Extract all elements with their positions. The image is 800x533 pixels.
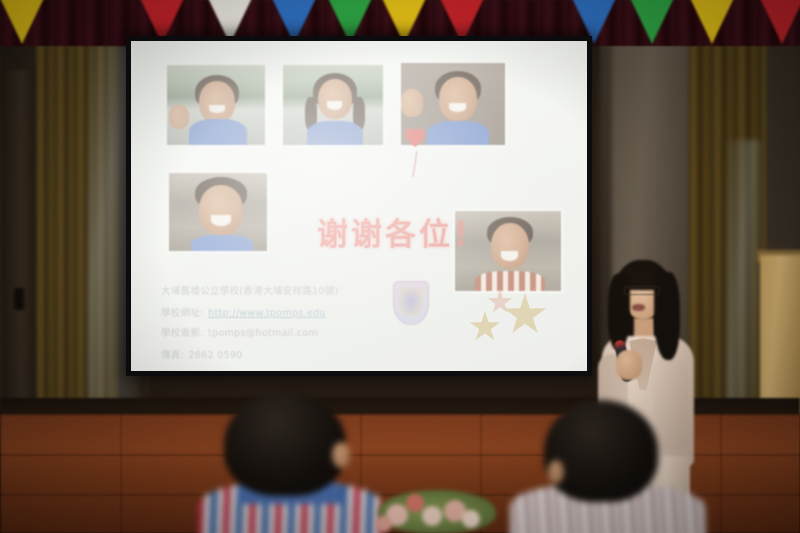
- photo-scene: 谢谢各位！ 大埔舊墟公立學校(香港大埔安祥路10號) 學校網址: http://…: [0, 0, 800, 533]
- podium: [760, 255, 800, 415]
- heart-balloon-icon: [403, 129, 429, 153]
- photo-child-closeup: [167, 171, 269, 253]
- slide-email-address: tpomps@hotmail.com: [208, 328, 318, 339]
- flower-bloom: [376, 516, 392, 532]
- audience-head-1: [224, 392, 346, 496]
- audience-ear-1: [332, 442, 350, 468]
- slide-website-label: 學校網址:: [161, 308, 204, 319]
- school-crest: [393, 281, 429, 325]
- slide-fax-number: 2662 0590: [189, 350, 243, 361]
- slide-school-name-address: 大埔舊墟公立學校(香港大埔安祥路10號): [161, 283, 339, 297]
- audience-ear-2: [548, 460, 564, 484]
- slide-school-website-line: 學校網址: http://www.tpomps.edu: [161, 303, 326, 321]
- flower-arrangement: [372, 486, 504, 533]
- slide-email-label: 學校電郵:: [161, 328, 204, 339]
- presenter-mouth: [632, 304, 645, 311]
- starfish-medium: [469, 311, 501, 343]
- slide-website-url[interactable]: http://www.tpomps.edu: [208, 308, 326, 319]
- flag-1-icon: [0, 0, 44, 44]
- flag-10-icon: [690, 0, 734, 44]
- slide-headline: 谢谢各位！: [317, 209, 487, 254]
- flower-bloom: [422, 506, 442, 526]
- sheer-curtain-right: [726, 140, 760, 405]
- flower-bloom: [462, 510, 480, 528]
- audience-member-striped-polo: [196, 392, 386, 533]
- slide-school-email-line: 學校電郵: tpomps@hotmail.com: [161, 323, 318, 341]
- projection-screen: 谢谢各位！ 大埔舊墟公立學校(香港大埔安祥路10號) 學校網址: http://…: [131, 41, 587, 371]
- slide-fax-label: 傳真:: [161, 350, 184, 361]
- side-door: [2, 70, 38, 400]
- slide-school-fax-line: 傳真: 2662 0590: [161, 345, 243, 363]
- photo-child-waving: [165, 63, 267, 147]
- starfish-decoration: [469, 289, 561, 343]
- presenter-hand: [616, 350, 642, 380]
- flower-bloom: [406, 494, 424, 512]
- audience-head-2: [544, 400, 658, 502]
- presenter-glasses: [624, 286, 660, 295]
- flag-9-icon: [630, 0, 674, 44]
- flag-11-icon: [760, 0, 800, 44]
- audience-member-pinstripe-shirt: [496, 398, 706, 533]
- photo-child-pigtails: [281, 63, 385, 147]
- door-knob: [14, 288, 24, 310]
